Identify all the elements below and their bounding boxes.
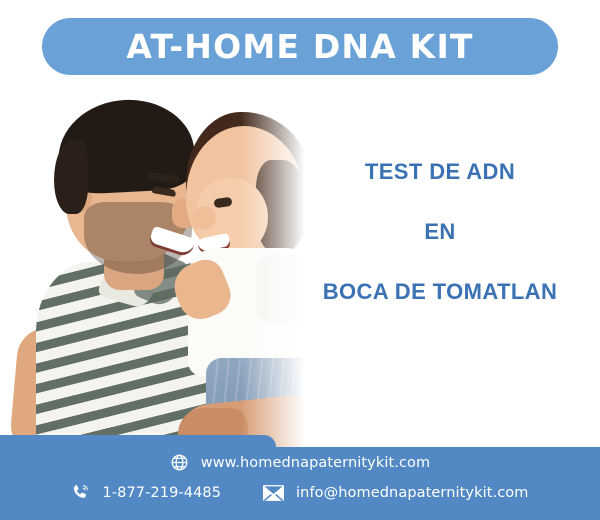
poster-root: AT-HOME DNA KIT bbox=[0, 0, 600, 520]
footer-website-row: www.homednapaternitykit.com bbox=[0, 453, 600, 472]
footer-bar: www.homednapaternitykit.com 1-877-219-44… bbox=[0, 447, 600, 520]
envelope-icon bbox=[263, 485, 284, 501]
footer-website[interactable]: www.homednapaternitykit.com bbox=[170, 453, 431, 472]
phone-icon bbox=[71, 483, 90, 502]
footer-email-label: info@homednapaternitykit.com bbox=[296, 485, 528, 501]
footer-phone-label: 1-877-219-4485 bbox=[102, 485, 221, 501]
headline-line-2: EN bbox=[296, 220, 584, 244]
header-banner: AT-HOME DNA KIT bbox=[42, 18, 558, 75]
footer-email[interactable]: info@homednapaternitykit.com bbox=[263, 485, 528, 501]
page-title: AT-HOME DNA KIT bbox=[126, 30, 473, 63]
footer-contact-row: 1-877-219-4485 info@homednapaternitykit.… bbox=[0, 483, 600, 502]
headline-block: TEST DE ADN EN BOCA DE TOMATLAN bbox=[296, 160, 584, 305]
child-nose bbox=[192, 206, 216, 230]
family-photo bbox=[0, 82, 330, 457]
headline-line-1: TEST DE ADN bbox=[296, 160, 584, 184]
globe-icon bbox=[170, 453, 189, 472]
father-sideburn bbox=[54, 140, 88, 214]
headline-line-3: BOCA DE TOMATLAN bbox=[296, 280, 584, 304]
footer-website-label: www.homednapaternitykit.com bbox=[201, 455, 431, 471]
footer-phone[interactable]: 1-877-219-4485 bbox=[71, 483, 221, 502]
photo-canvas bbox=[0, 82, 330, 457]
